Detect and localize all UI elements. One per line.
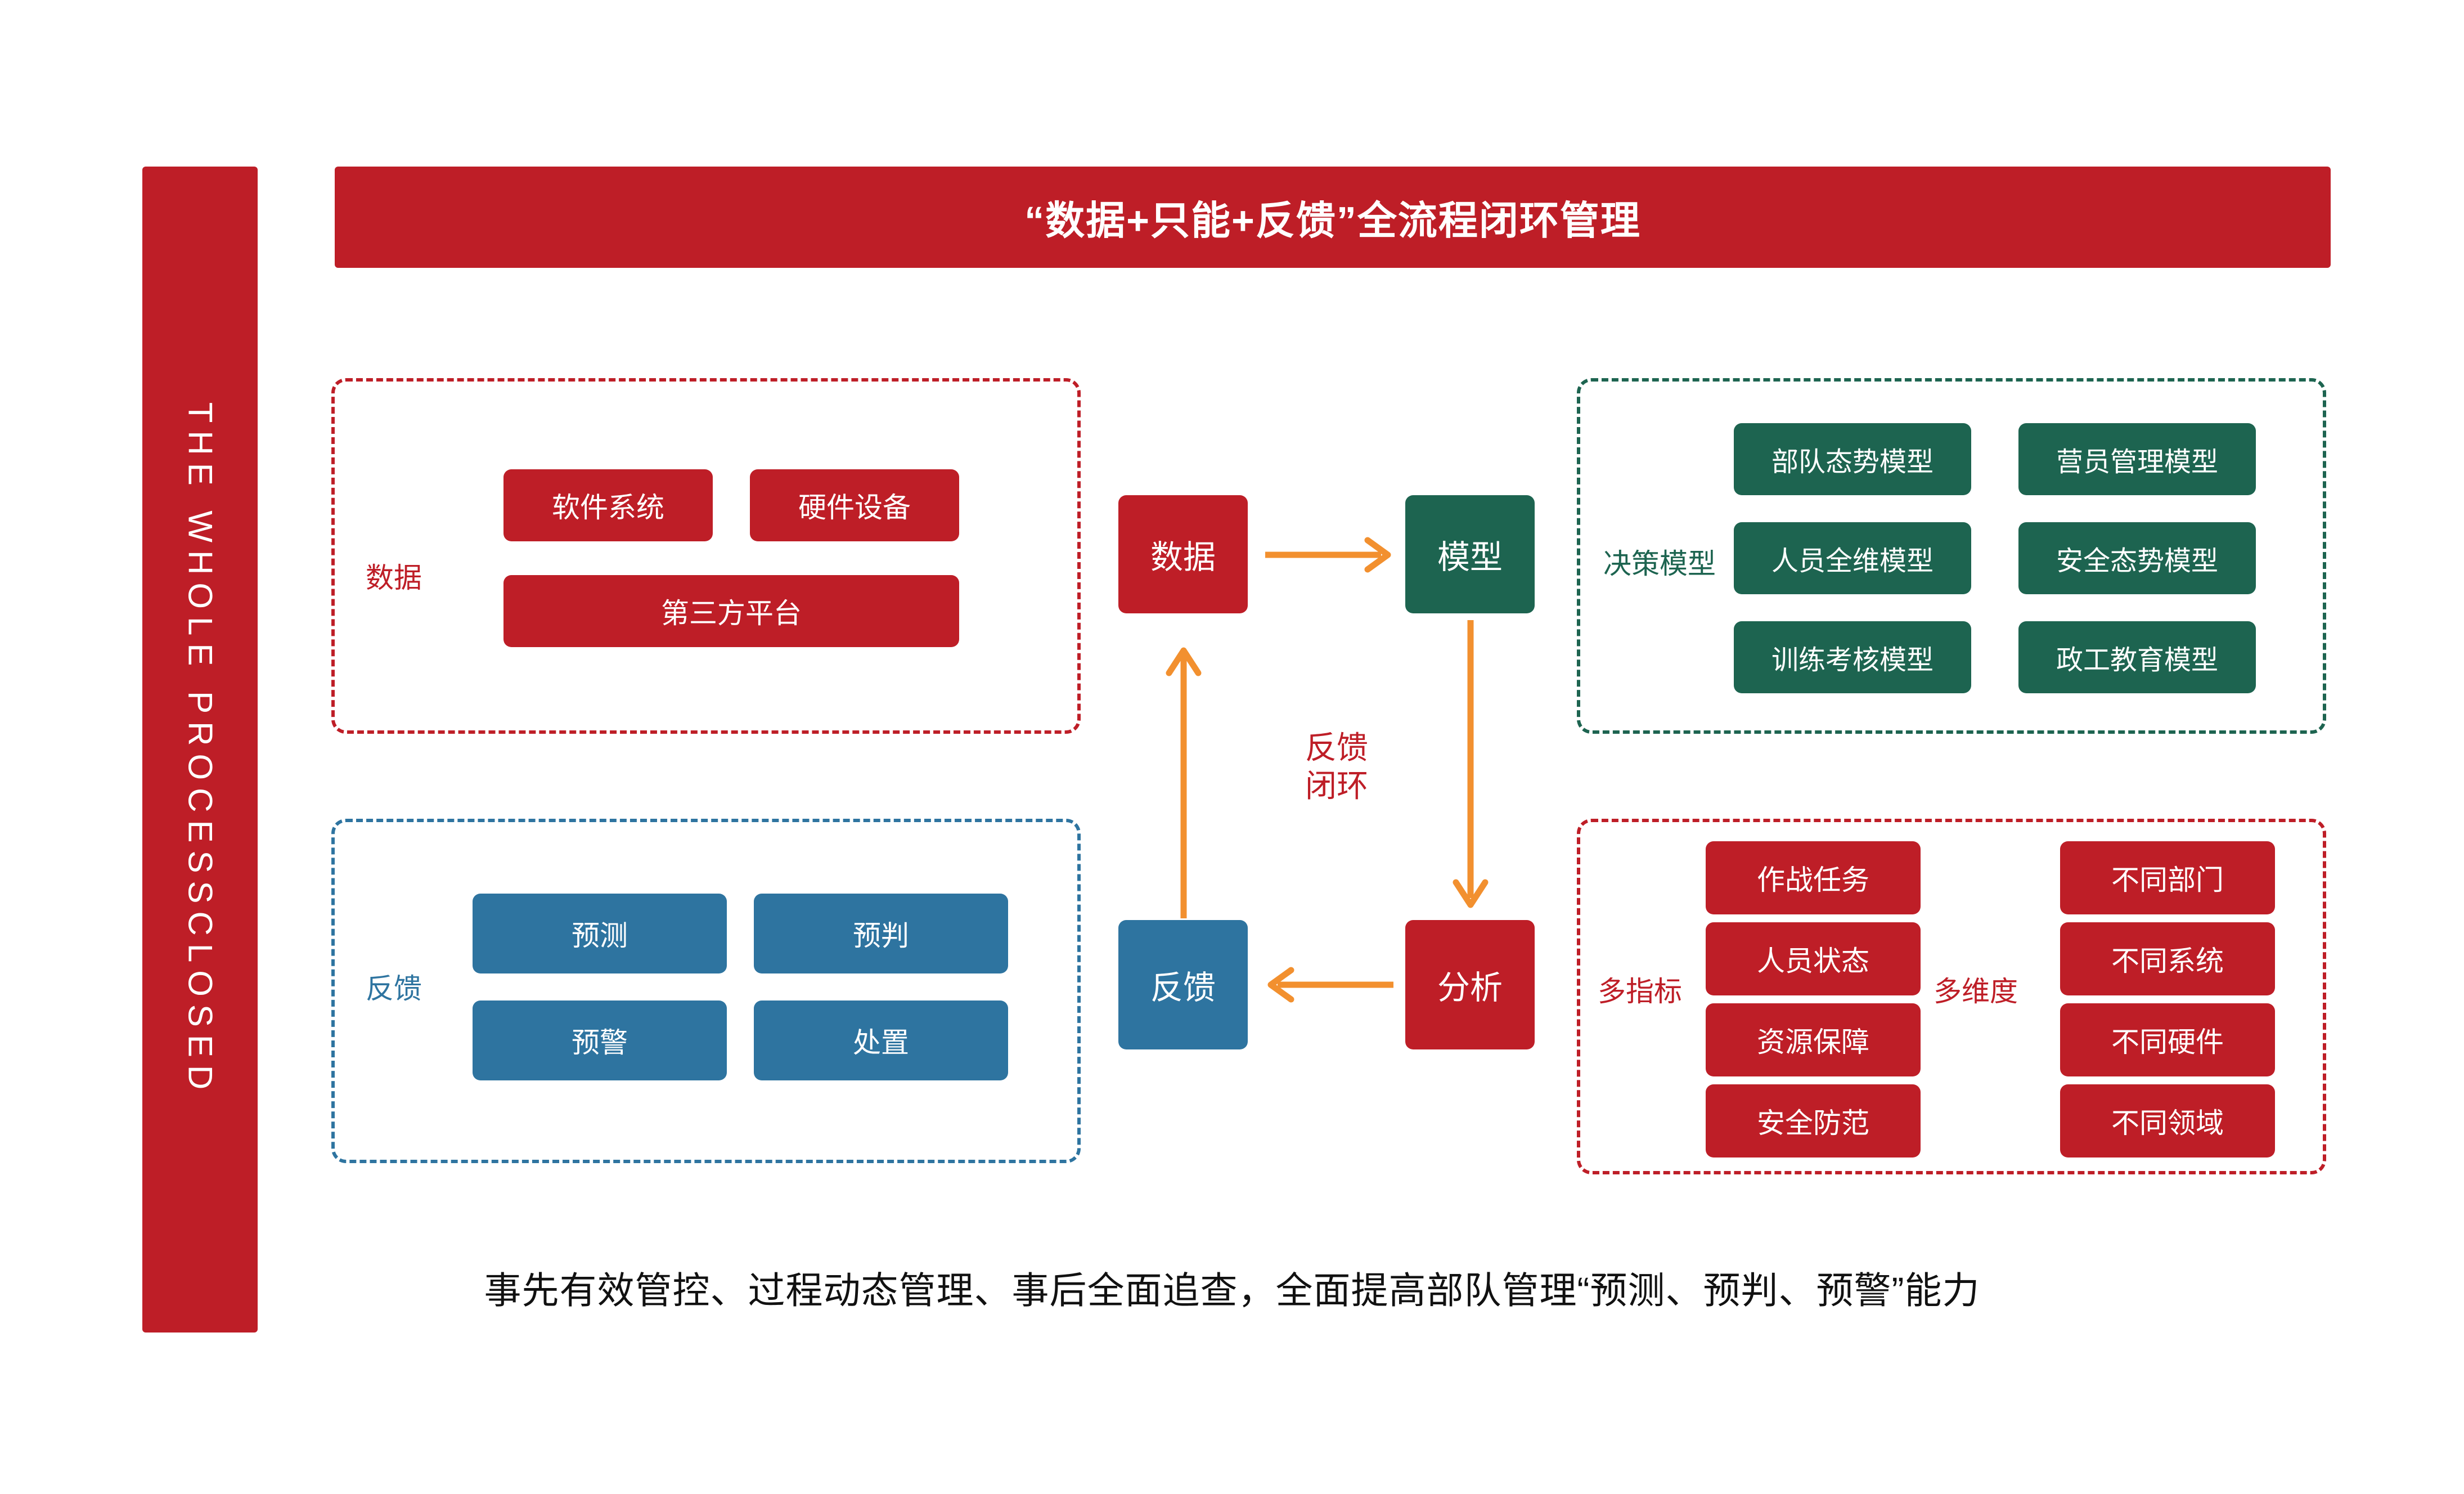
chip-third-party-platform[interactable]: 第三方平台 bbox=[503, 575, 959, 647]
feedback-loop-caption-line1: 反馈 bbox=[1264, 729, 1410, 767]
side-banner: THE WHOLE PROCESSCLOSED bbox=[142, 167, 258, 1333]
chip-resource-guarantee[interactable]: 资源保障 bbox=[1706, 1003, 1921, 1076]
group-dimensions-label-left: 多指标 bbox=[1598, 976, 1682, 1007]
chip-troop-situation-model[interactable]: 部队态势模型 bbox=[1734, 423, 1971, 495]
chip-hardware-device[interactable]: 硬件设备 bbox=[750, 469, 959, 541]
chip-different-systems[interactable]: 不同系统 bbox=[2060, 922, 2275, 995]
page-title: “数据+只能+反馈”全流程闭环管理 bbox=[1024, 189, 1641, 246]
bottom-caption: 事先有效管控、过程动态管理、事后全面追查，全面提高部队管理“预测、预判、预警”能… bbox=[0, 1260, 2464, 1314]
feedback-loop-caption-line2: 闭环 bbox=[1264, 767, 1410, 805]
chip-combat-mission[interactable]: 作战任务 bbox=[1706, 841, 1921, 914]
chip-camp-member-management-model[interactable]: 营员管理模型 bbox=[2018, 423, 2256, 495]
chip-early-warning[interactable]: 预警 bbox=[473, 1001, 727, 1080]
chip-different-departments[interactable]: 不同部门 bbox=[2060, 841, 2275, 914]
flow-node-model[interactable]: 模型 bbox=[1405, 495, 1535, 613]
chip-personnel-full-dimension-model[interactable]: 人员全维模型 bbox=[1734, 522, 1971, 594]
arrow-data-to-model bbox=[1263, 535, 1396, 575]
group-feedback-label: 反馈 bbox=[366, 973, 422, 1004]
flow-node-data[interactable]: 数据 bbox=[1118, 495, 1248, 613]
chip-prejudgement[interactable]: 预判 bbox=[754, 894, 1008, 973]
group-feedback bbox=[331, 819, 1081, 1163]
diagram-canvas: THE WHOLE PROCESSCLOSED “数据+只能+反馈”全流程闭环管… bbox=[0, 0, 2464, 1494]
chip-forecast[interactable]: 预测 bbox=[473, 894, 727, 973]
flow-node-analysis[interactable]: 分析 bbox=[1405, 920, 1535, 1049]
title-banner: “数据+只能+反馈”全流程闭环管理 bbox=[335, 167, 2331, 268]
feedback-loop-caption: 反馈 闭环 bbox=[1264, 729, 1410, 806]
group-decision-model-label: 决策模型 bbox=[1603, 549, 1716, 580]
arrow-feedback-to-data bbox=[1163, 646, 1204, 921]
side-banner-text: THE WHOLE PROCESSCLOSED bbox=[181, 402, 219, 1097]
chip-personnel-status[interactable]: 人员状态 bbox=[1706, 922, 1921, 995]
chip-different-domains[interactable]: 不同领域 bbox=[2060, 1084, 2275, 1157]
chip-training-assessment-model[interactable]: 训练考核模型 bbox=[1734, 621, 1971, 693]
chip-disposal[interactable]: 处置 bbox=[754, 1001, 1008, 1080]
arrow-analysis-to-feedback bbox=[1263, 964, 1396, 1005]
group-dimensions-label-right: 多维度 bbox=[1934, 976, 2018, 1007]
group-data bbox=[331, 378, 1081, 734]
chip-political-education-model[interactable]: 政工教育模型 bbox=[2018, 621, 2256, 693]
chip-software-system[interactable]: 软件系统 bbox=[503, 469, 713, 541]
chip-different-hardware[interactable]: 不同硬件 bbox=[2060, 1003, 2275, 1076]
group-data-label: 数据 bbox=[366, 563, 422, 594]
flow-node-feedback[interactable]: 反馈 bbox=[1118, 920, 1248, 1049]
chip-security-prevention[interactable]: 安全防范 bbox=[1706, 1084, 1921, 1157]
chip-safety-situation-model[interactable]: 安全态势模型 bbox=[2018, 522, 2256, 594]
arrow-model-to-analysis bbox=[1450, 618, 1491, 913]
